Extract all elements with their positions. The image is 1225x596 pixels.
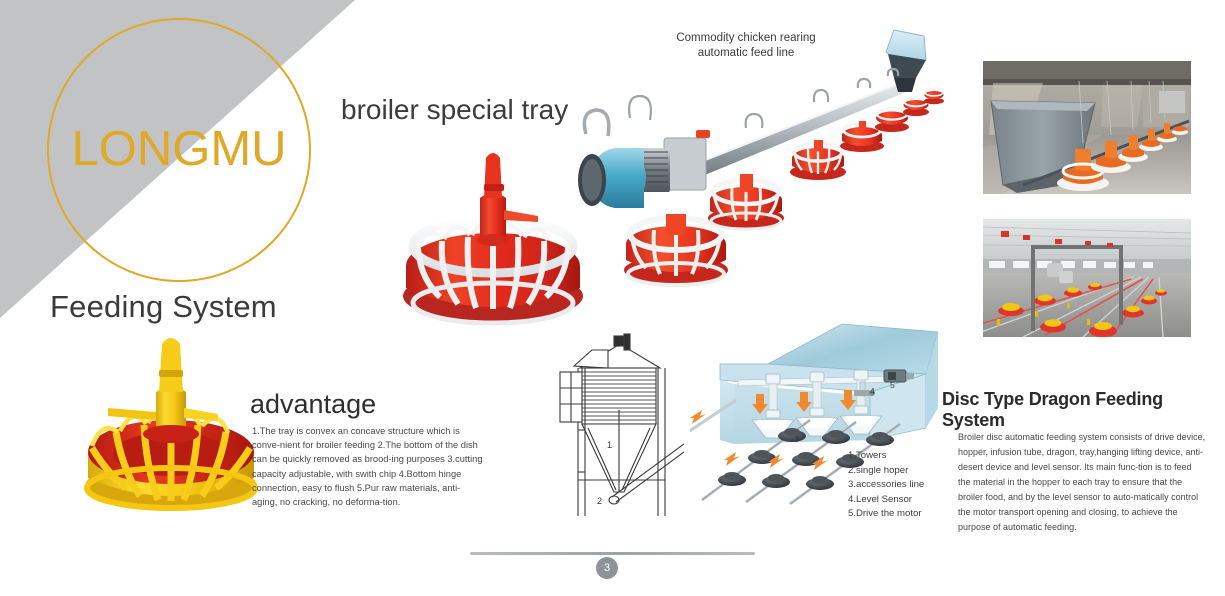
advantage-title: advantage <box>250 389 376 420</box>
brand-tagline: Feeding System <box>50 289 277 325</box>
barn-label-4: 4 <box>870 386 875 396</box>
broiler-tray-product-image <box>388 148 598 333</box>
footer-divider <box>470 552 755 555</box>
list-item: 3.accessories line <box>848 478 924 493</box>
yellow-feeder-pan-image <box>78 336 264 518</box>
photo-hopper-feedline <box>983 61 1191 194</box>
barn-label-5: 5 <box>890 380 895 390</box>
list-item: 2.single hoper <box>848 464 924 479</box>
slide-page: LONGMU Feeding System broiler special tr… <box>0 0 1225 596</box>
silo-label-2: 2 <box>597 496 602 506</box>
list-item: 1.Towers <box>848 449 924 464</box>
list-item: 5.Drive the motor <box>848 507 924 522</box>
callout-list: 1.Towers 2.single hoper 3.accessories li… <box>848 449 924 522</box>
silo-label-1: 1 <box>607 440 612 450</box>
disc-system-title: Disc Type Dragon Feeding System <box>942 389 1225 431</box>
disc-system-body: Broiler disc automatic feeding system co… <box>958 430 1206 535</box>
barn-label-3: 3 <box>794 434 799 444</box>
page-title: broiler special tray <box>341 94 568 126</box>
advantage-body: 1.The tray is convex an concave structur… <box>252 424 488 509</box>
automatic-feed-line-illustration <box>568 22 968 312</box>
page-number-badge: 3 <box>596 557 618 579</box>
brand-logo-text: LONGMU <box>47 118 311 180</box>
feed-silo-diagram: 1 2 <box>552 332 684 522</box>
list-item: 4.Level Sensor <box>848 493 924 508</box>
photo-broiler-house-rows <box>983 219 1191 337</box>
